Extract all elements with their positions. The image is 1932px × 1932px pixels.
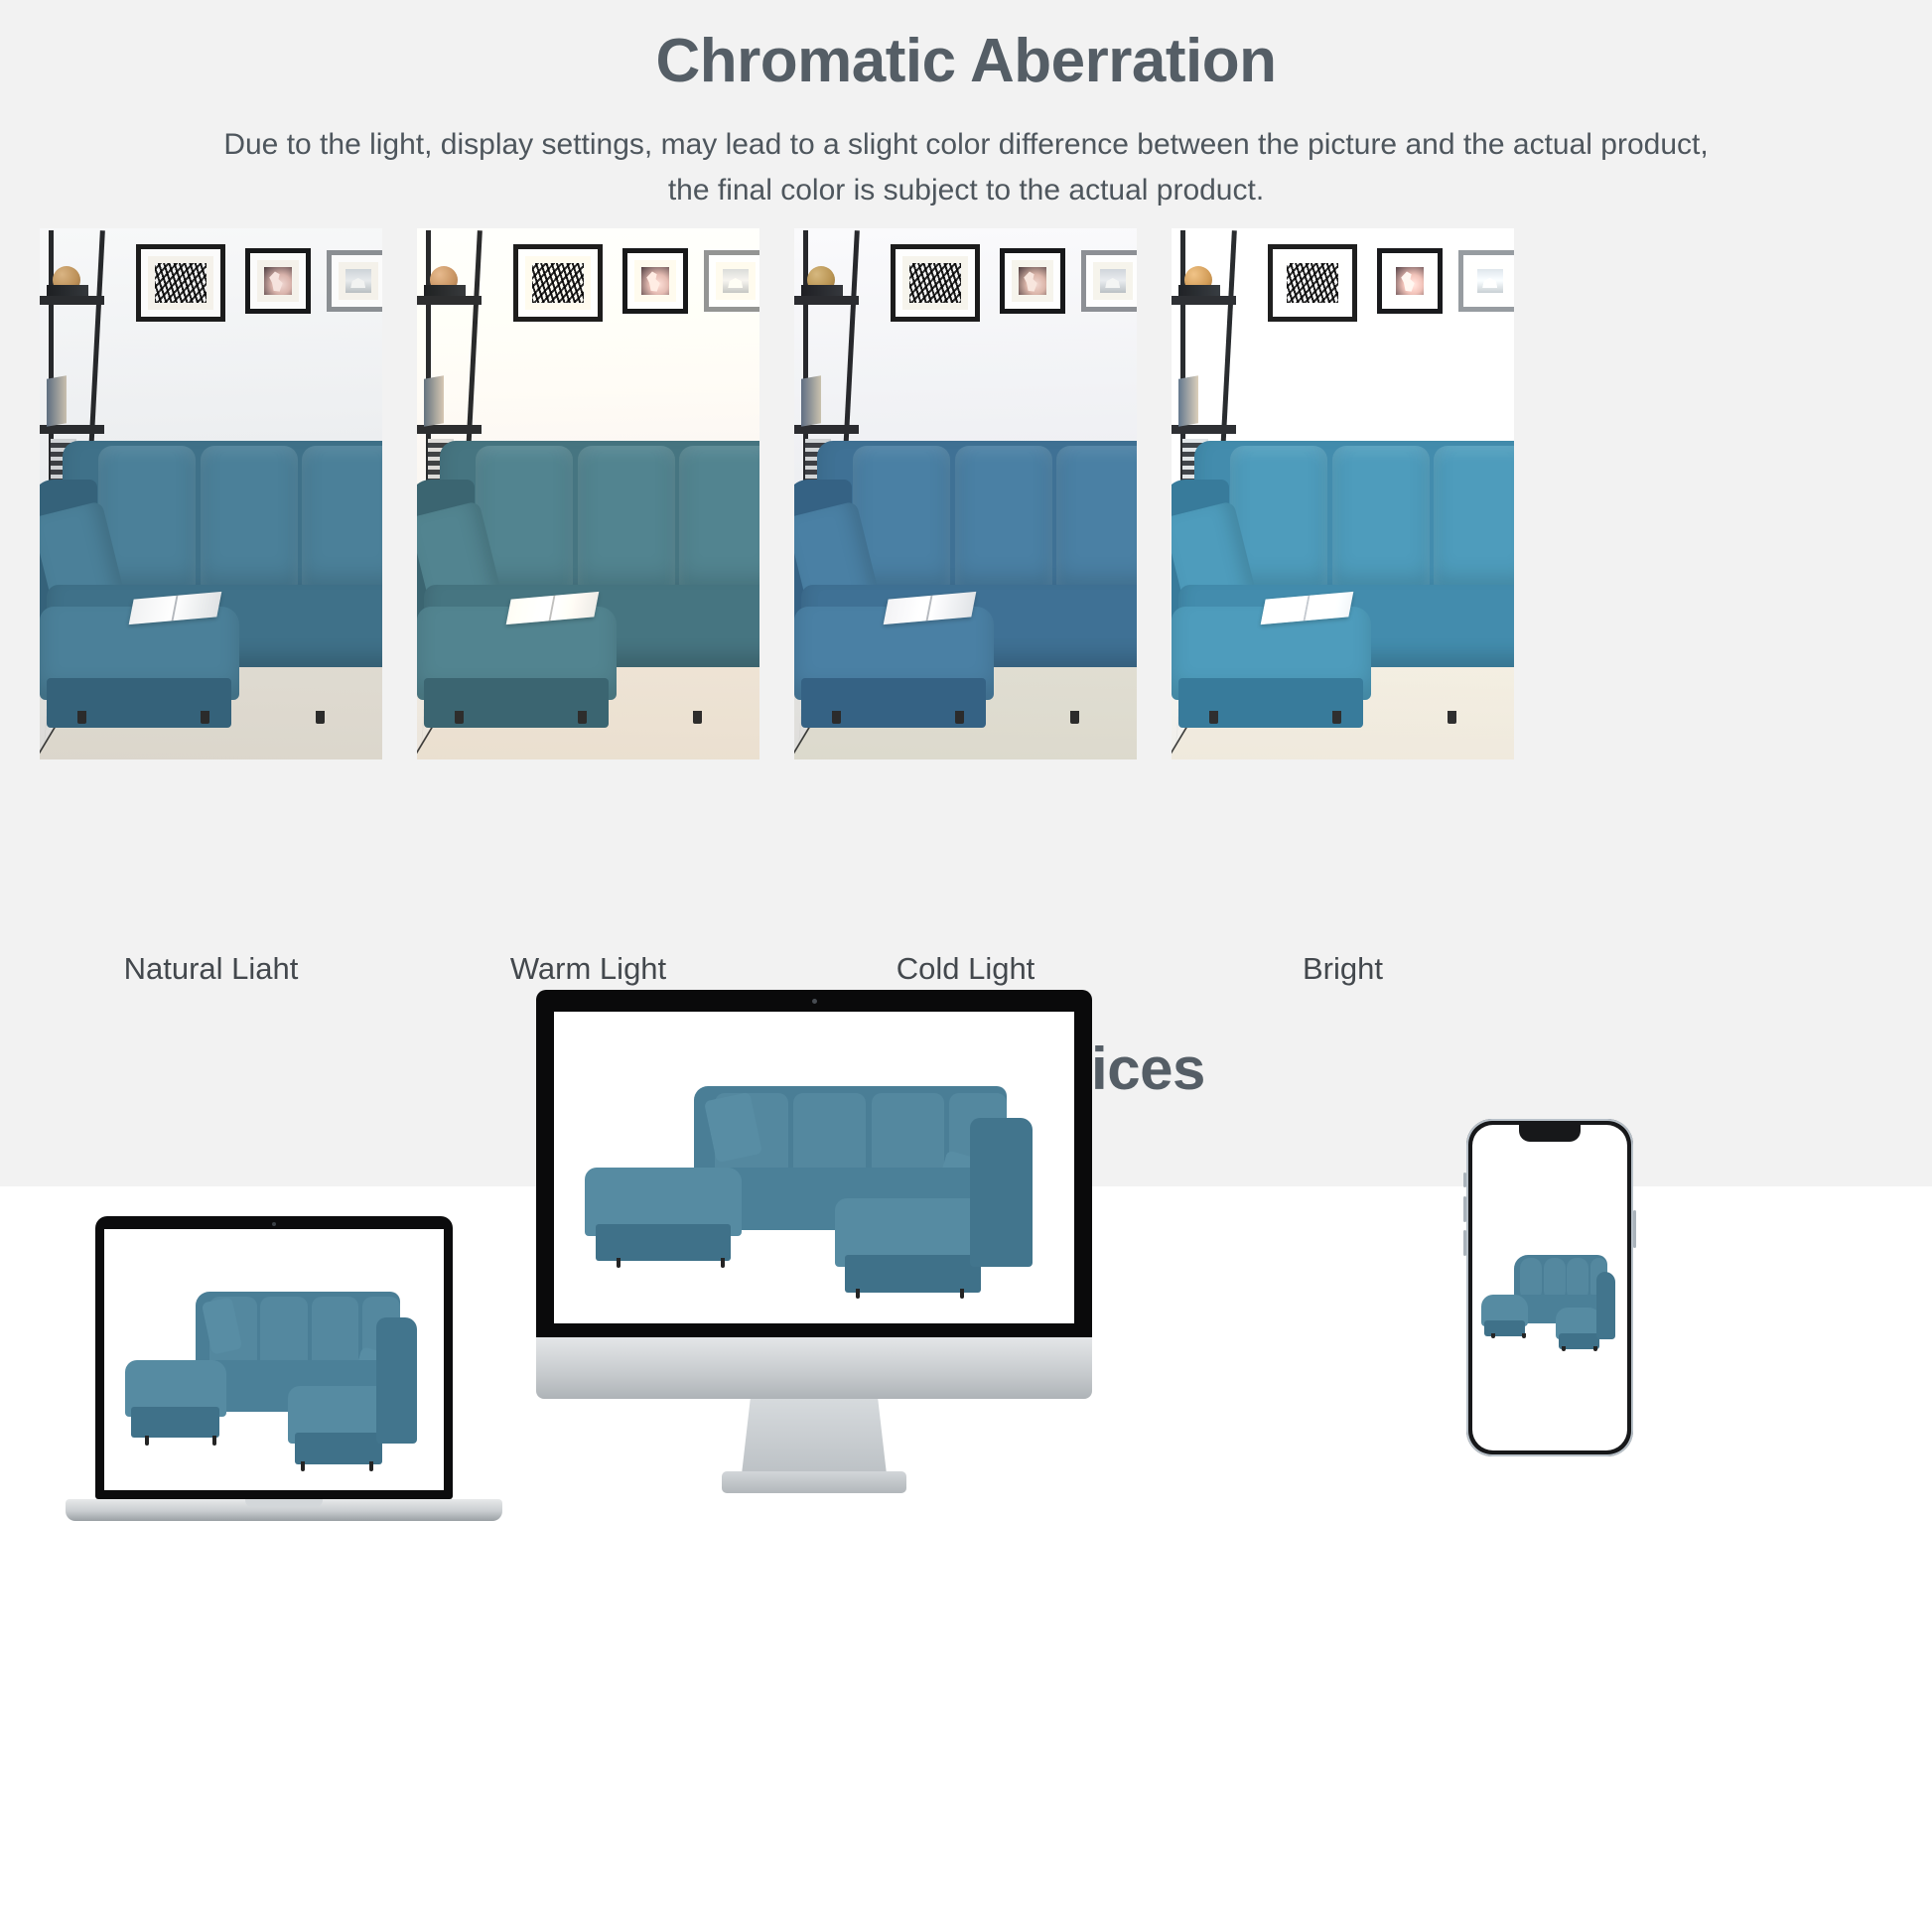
- living-room-scene: [794, 228, 1137, 759]
- phone-power-button[interactable]: [1633, 1210, 1636, 1248]
- frame-artwork: [532, 263, 584, 303]
- stacked-books-decor: [801, 285, 843, 296]
- monitor-screen: [554, 1012, 1074, 1323]
- monitor-stand-neck: [742, 1399, 887, 1474]
- stacked-books-decor: [424, 285, 466, 296]
- sectional-sofa: [40, 441, 382, 717]
- monitor-bezel: [536, 990, 1092, 1337]
- wall-frame-landscape: [1081, 250, 1137, 312]
- shelf-board: [794, 425, 859, 434]
- frame-artwork: [641, 267, 669, 295]
- laptop-lid: [95, 1216, 453, 1499]
- laptop-screen: [104, 1229, 444, 1490]
- phone-silent-switch[interactable]: [1463, 1173, 1466, 1187]
- shelf-board: [1172, 425, 1236, 434]
- product-sofa-image: [104, 1229, 444, 1490]
- phone-body: [1466, 1119, 1633, 1456]
- monitor-stand-base: [722, 1471, 906, 1493]
- living-room-scene: [1172, 228, 1514, 759]
- wall-frame-horse: [1000, 248, 1065, 314]
- phone-screen: [1472, 1125, 1627, 1450]
- ottoman-base: [131, 1407, 219, 1439]
- lighting-caption-row: Natural Liaht Warm Light Cold Light Brig…: [40, 951, 1892, 987]
- sofa-foot: [832, 711, 841, 724]
- wall-frame-landscape: [327, 250, 382, 312]
- shelf-board: [417, 296, 482, 305]
- laptop-latch-notch: [245, 1499, 323, 1507]
- living-room-scene: [40, 228, 382, 759]
- lighting-photo-cold: [794, 228, 1137, 759]
- sofa-foot: [1562, 1346, 1566, 1351]
- stacked-books-decor: [47, 285, 88, 296]
- living-room-scene: [417, 228, 759, 759]
- wall-frame-abstract: [1268, 244, 1357, 322]
- device-laptop: [66, 1216, 502, 1544]
- sofa-foot: [1593, 1346, 1597, 1351]
- sofa-arm: [1596, 1272, 1615, 1340]
- caption-warm-light: Warm Light: [417, 951, 759, 987]
- product-sofa-image: [1472, 1125, 1627, 1450]
- back-cushion: [1434, 446, 1514, 591]
- shelf-board: [40, 296, 104, 305]
- wall-frame-horse: [245, 248, 311, 314]
- product-infographic-page: Chromatic Aberration Due to the light, d…: [0, 0, 1932, 1932]
- sofa-foot: [301, 1461, 305, 1471]
- sofa-foot: [617, 1258, 621, 1268]
- back-cushion: [1332, 446, 1430, 591]
- frame-artwork: [723, 269, 749, 293]
- stacked-books-decor: [1178, 285, 1220, 296]
- back-cushion: [955, 446, 1052, 591]
- sofa-foot: [201, 711, 209, 724]
- frame-artwork: [1477, 269, 1503, 293]
- sofa-foot: [1209, 711, 1218, 724]
- ottoman-base: [596, 1224, 731, 1262]
- wall-frame-landscape: [704, 250, 759, 312]
- webcam-icon: [272, 1222, 276, 1226]
- sofa-foot: [455, 711, 464, 724]
- sofa-foot: [856, 1289, 860, 1299]
- sofa-arm: [376, 1317, 417, 1443]
- lighting-comparison-gallery: [40, 228, 1892, 759]
- monitor-chin: [536, 1337, 1092, 1399]
- sofa-foot: [578, 711, 587, 724]
- different-devices-section: [0, 1186, 1932, 1932]
- leaning-book-decor: [424, 375, 444, 427]
- leaning-book-decor: [47, 375, 67, 427]
- back-cushion: [302, 446, 382, 591]
- caption-bright: Bright: [1172, 951, 1514, 987]
- wall-frame-abstract: [513, 244, 603, 322]
- frame-artwork: [1019, 267, 1046, 295]
- wall-frame-landscape: [1458, 250, 1514, 312]
- sofa-foot: [955, 711, 964, 724]
- lighting-photo-warm: [417, 228, 759, 759]
- frame-artwork: [345, 269, 371, 293]
- sofa-foot: [1522, 1333, 1526, 1338]
- caption-cold-light: Cold Light: [794, 951, 1137, 987]
- sofa-foot: [693, 711, 702, 724]
- webcam-icon: [812, 999, 817, 1004]
- device-desktop-monitor: [536, 990, 1092, 1516]
- sofa-arm: [970, 1118, 1033, 1268]
- lighting-photo-bright: [1172, 228, 1514, 759]
- wall-frame-abstract: [136, 244, 225, 322]
- frame-artwork: [155, 263, 207, 303]
- disclaimer-text: Due to the light, display settings, may …: [216, 122, 1716, 212]
- leaning-book-decor: [1178, 375, 1198, 427]
- sectional-sofa: [794, 441, 1137, 717]
- sofa-foot: [960, 1289, 964, 1299]
- sofa-foot: [1070, 711, 1079, 724]
- sofa-foot: [369, 1461, 373, 1471]
- sofa-foot: [721, 1258, 725, 1268]
- back-cushion: [578, 446, 675, 591]
- sofa-foot: [1332, 711, 1341, 724]
- phone-notch: [1519, 1125, 1581, 1142]
- wall-frame-horse: [622, 248, 688, 314]
- ottoman-base: [295, 1433, 383, 1464]
- frame-artwork: [909, 263, 961, 303]
- back-cushion: [1056, 446, 1137, 591]
- frame-artwork: [1100, 269, 1126, 293]
- frame-artwork: [1396, 267, 1424, 295]
- frame-artwork: [1287, 263, 1338, 303]
- shelf-board: [794, 296, 859, 305]
- frame-artwork: [264, 267, 292, 295]
- sofa-foot: [1491, 1333, 1495, 1338]
- sofa-foot: [145, 1436, 149, 1446]
- back-cushion: [201, 446, 298, 591]
- shelf-board: [40, 425, 104, 434]
- wall-frame-horse: [1377, 248, 1443, 314]
- product-sofa-image: [554, 1012, 1074, 1323]
- phone-volume-up-button[interactable]: [1463, 1196, 1466, 1222]
- sofa-foot: [1448, 711, 1456, 724]
- ottoman-base: [845, 1255, 980, 1293]
- sofa-foot: [212, 1436, 216, 1446]
- sofa-foot: [316, 711, 325, 724]
- device-smartphone: [1466, 1119, 1633, 1456]
- wall-frame-abstract: [891, 244, 980, 322]
- page-title: Chromatic Aberration: [0, 26, 1932, 96]
- phone-volume-down-button[interactable]: [1463, 1230, 1466, 1256]
- sectional-sofa: [417, 441, 759, 717]
- lighting-photo-natural: [40, 228, 382, 759]
- shelf-board: [417, 425, 482, 434]
- sectional-sofa: [1172, 441, 1514, 717]
- leaning-book-decor: [801, 375, 821, 427]
- caption-natural-light: Natural Liaht: [40, 951, 382, 987]
- shelf-board: [1172, 296, 1236, 305]
- back-cushion: [679, 446, 759, 591]
- sofa-foot: [77, 711, 86, 724]
